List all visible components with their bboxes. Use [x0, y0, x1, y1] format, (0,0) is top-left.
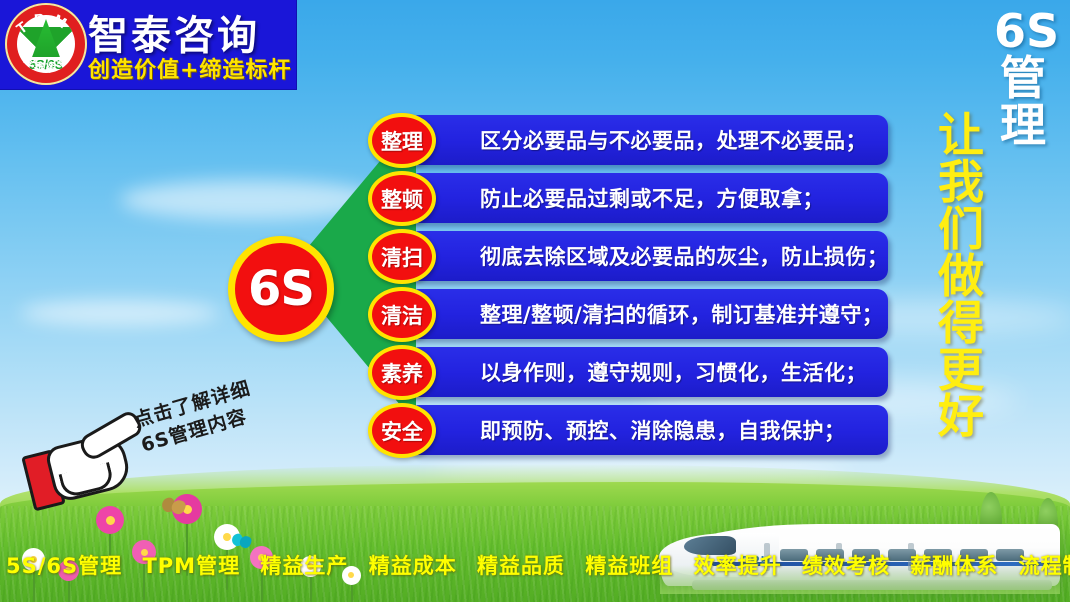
logo-arc-text: TPM 智泰咨询: [5, 3, 87, 85]
butterfly-icon: [232, 534, 252, 549]
row-badge-label: 素养: [381, 358, 423, 388]
keyword-strip: 5S/6S管理 TPM管理 精益生产 精益成本 精益品质 精益班组 效率提升 绩…: [0, 550, 1070, 580]
headline-char: 们: [932, 206, 990, 253]
headline-char: 理: [994, 102, 1052, 149]
cloud-shape: [20, 300, 220, 326]
hub-6s-label: 6S: [248, 265, 314, 313]
headline-char: 让: [932, 112, 990, 159]
butterfly-icon: [162, 498, 186, 516]
row-bar[interactable]: 彻底去除区域及必要品的灰尘，防止损伤；: [408, 231, 888, 281]
headline-char: 做: [932, 253, 990, 300]
row-bar[interactable]: 以身作则，遵守规则，习惯化，生活化；: [408, 347, 888, 397]
row-bar[interactable]: 区分必要品与不必要品，处理不必要品；: [408, 115, 888, 165]
row-badge[interactable]: 清扫: [368, 229, 436, 284]
keyword-item[interactable]: 效率提升: [694, 554, 782, 578]
company-logo: 5S/6S TPM 智泰咨询: [5, 3, 87, 85]
headline-char: 好: [932, 393, 990, 440]
row-bar[interactable]: 即预防、预控、消除隐患，自我保护；: [408, 405, 888, 455]
row-description: 以身作则，遵守规则，习惯化，生活化；: [480, 357, 867, 387]
hub-6s-badge[interactable]: 6S: [228, 236, 334, 342]
keyword-item[interactable]: 流程制度: [1019, 554, 1070, 578]
brand-banner: 5S/6S TPM 智泰咨询 智泰咨询 创造价值+缔造标杆: [0, 0, 296, 89]
keyword-item[interactable]: 薪酬体系: [910, 554, 998, 578]
keyword-item[interactable]: 精益成本: [369, 554, 457, 578]
keyword-item[interactable]: TPM管理: [142, 554, 240, 578]
headline-char: 管: [994, 55, 1052, 102]
svg-text:TPM: TPM: [13, 10, 75, 38]
headline-yellow-column: 让 我 们 做 得 更 好: [932, 112, 990, 440]
row-description: 整理/整顿/清扫的循环，制订基准并遵守；: [480, 299, 883, 329]
svg-text:智泰咨询: 智泰咨询: [20, 50, 73, 75]
headline-char: 得: [932, 300, 990, 347]
keyword-item[interactable]: 绩效考核: [802, 554, 890, 578]
row-badge[interactable]: 清洁: [368, 287, 436, 342]
headline-char: 我: [932, 159, 990, 206]
row-badge[interactable]: 安全: [368, 403, 436, 458]
keyword-item[interactable]: 5S/6S管理: [6, 554, 122, 578]
row-badge[interactable]: 素养: [368, 345, 436, 400]
row-description: 即预防、预控、消除隐患，自我保护；: [480, 415, 846, 445]
keyword-item[interactable]: 精益生产: [260, 554, 348, 578]
company-tagline: 创造价值+缔造标杆: [88, 52, 291, 84]
row-badge-label: 安全: [381, 416, 423, 446]
headline-char: 6S: [994, 8, 1052, 55]
row-badge-label: 整顿: [381, 184, 423, 214]
row-badge-label: 整理: [381, 126, 423, 156]
keyword-item[interactable]: 精益班组: [585, 554, 673, 578]
row-bar[interactable]: 整理/整顿/清扫的循环，制订基准并遵守；: [408, 289, 888, 339]
row-badge[interactable]: 整顿: [368, 171, 436, 226]
headline-white-column: 6S 管 理: [994, 8, 1052, 149]
row-description: 彻底去除区域及必要品的灰尘，防止损伤；: [480, 241, 889, 271]
row-badge[interactable]: 整理: [368, 113, 436, 168]
row-description: 防止必要品过剩或不足，方便取拿；: [480, 183, 824, 213]
poster-canvas: CRH: [0, 0, 1070, 602]
row-description: 区分必要品与不必要品，处理不必要品；: [480, 125, 867, 155]
keyword-item[interactable]: 精益品质: [477, 554, 565, 578]
row-bar[interactable]: 防止必要品过剩或不足，方便取拿；: [408, 173, 888, 223]
row-badge-label: 清洁: [381, 300, 423, 330]
headline-char: 更: [932, 347, 990, 394]
row-badge-label: 清扫: [381, 242, 423, 272]
